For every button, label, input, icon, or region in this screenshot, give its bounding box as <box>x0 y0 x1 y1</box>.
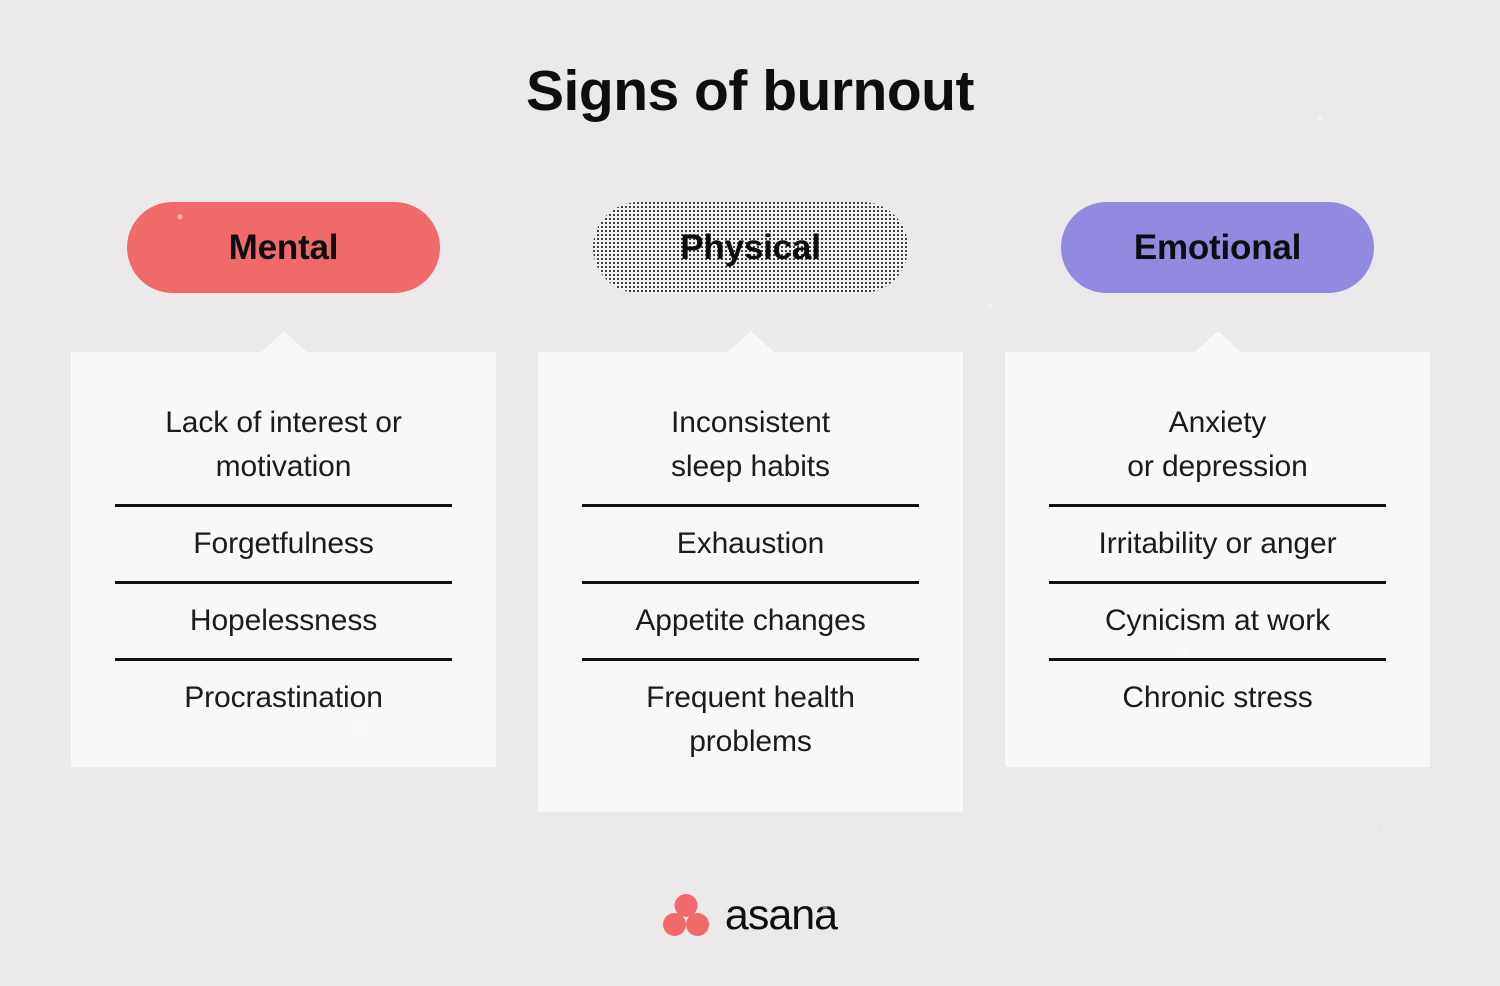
card-notch-emotional <box>1194 331 1242 353</box>
column-mental: Mental Lack of interest or motivation Fo… <box>71 202 496 767</box>
list-item: Exhaustion <box>582 504 919 581</box>
category-pill-mental-label: Mental <box>229 228 339 268</box>
signs-columns: Mental Lack of interest or motivation Fo… <box>71 202 1430 812</box>
card-notch-physical <box>727 331 775 353</box>
category-pill-emotional[interactable]: Emotional <box>1061 202 1374 293</box>
list-item: Cynicism at work <box>1049 581 1386 658</box>
column-emotional: Emotional Anxiety or depression Irritabi… <box>1005 202 1430 767</box>
card-wrap-emotional: Anxiety or depression Irritability or an… <box>1005 352 1430 767</box>
card-notch-mental <box>260 331 308 353</box>
list-item: Procrastination <box>115 658 452 735</box>
list-item: Inconsistent sleep habits <box>582 386 919 504</box>
list-item: Forgetfulness <box>115 504 452 581</box>
signs-card-emotional: Anxiety or depression Irritability or an… <box>1005 352 1430 767</box>
category-pill-physical[interactable]: Physical <box>593 202 908 293</box>
list-item: Irritability or anger <box>1049 504 1386 581</box>
category-pill-emotional-label: Emotional <box>1134 228 1301 268</box>
list-item: Anxiety or depression <box>1049 386 1386 504</box>
signs-card-mental: Lack of interest or motivation Forgetful… <box>71 352 496 767</box>
list-item: Hopelessness <box>115 581 452 658</box>
card-wrap-physical: Inconsistent sleep habits Exhaustion App… <box>538 352 963 812</box>
list-item: Appetite changes <box>582 581 919 658</box>
category-pill-physical-label: Physical <box>676 228 824 268</box>
list-item: Lack of interest or motivation <box>115 386 452 504</box>
list-item: Chronic stress <box>1049 658 1386 735</box>
page-title: Signs of burnout <box>0 58 1500 124</box>
list-item: Frequent health problems <box>582 658 919 779</box>
asana-wordmark: asana <box>725 894 837 937</box>
column-physical: Physical Inconsistent sleep habits Exhau… <box>538 202 963 812</box>
signs-card-physical: Inconsistent sleep habits Exhaustion App… <box>538 352 963 812</box>
card-wrap-mental: Lack of interest or motivation Forgetful… <box>71 352 496 767</box>
asana-logo: asana <box>0 893 1500 936</box>
asana-dots-icon <box>663 894 709 936</box>
category-pill-mental[interactable]: Mental <box>127 202 440 293</box>
